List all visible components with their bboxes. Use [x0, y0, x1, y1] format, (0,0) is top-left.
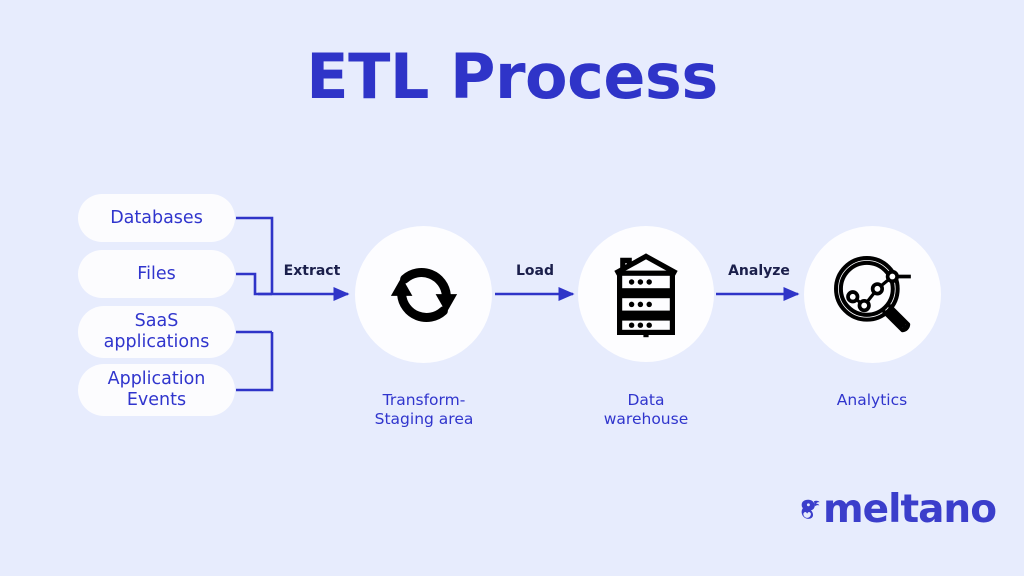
etl-diagram-canvas: ETL Process Databases Files SaaS applica… [0, 0, 1024, 576]
flow-label-extract: Extract [265, 263, 359, 279]
brand-logo[interactable]: meltano [800, 478, 996, 540]
meltano-bird-icon [800, 481, 821, 537]
data-warehouse-icon [606, 250, 686, 338]
stage-circle-transform[interactable] [355, 226, 492, 363]
flow-label-analyze: Analyze [712, 263, 806, 279]
source-box-label: SaaS applications [104, 311, 210, 352]
stage-circle-warehouse[interactable] [578, 226, 714, 362]
source-box-label: Databases [110, 208, 203, 229]
stage-circle-analytics[interactable] [804, 226, 941, 363]
stage-caption-analytics: Analytics [796, 391, 948, 410]
stage-caption-warehouse: Data warehouse [570, 391, 722, 430]
source-box-label: Application Events [108, 369, 206, 410]
stage-caption-transform: Transform- Staging area [348, 391, 500, 430]
connector-application-events [236, 332, 272, 390]
magnifier-chart-icon [829, 251, 917, 339]
page-title: ETL Process [0, 46, 1024, 108]
source-box-databases[interactable]: Databases [78, 194, 235, 242]
source-box-saas-applications[interactable]: SaaS applications [78, 306, 235, 358]
brand-wordmark: meltano [823, 490, 996, 529]
refresh-cycle-icon [381, 252, 467, 338]
source-box-application-events[interactable]: Application Events [78, 364, 235, 416]
connector-databases [236, 218, 272, 294]
source-box-files[interactable]: Files [78, 250, 235, 298]
source-box-label: Files [137, 264, 175, 285]
flow-label-load: Load [492, 263, 578, 279]
